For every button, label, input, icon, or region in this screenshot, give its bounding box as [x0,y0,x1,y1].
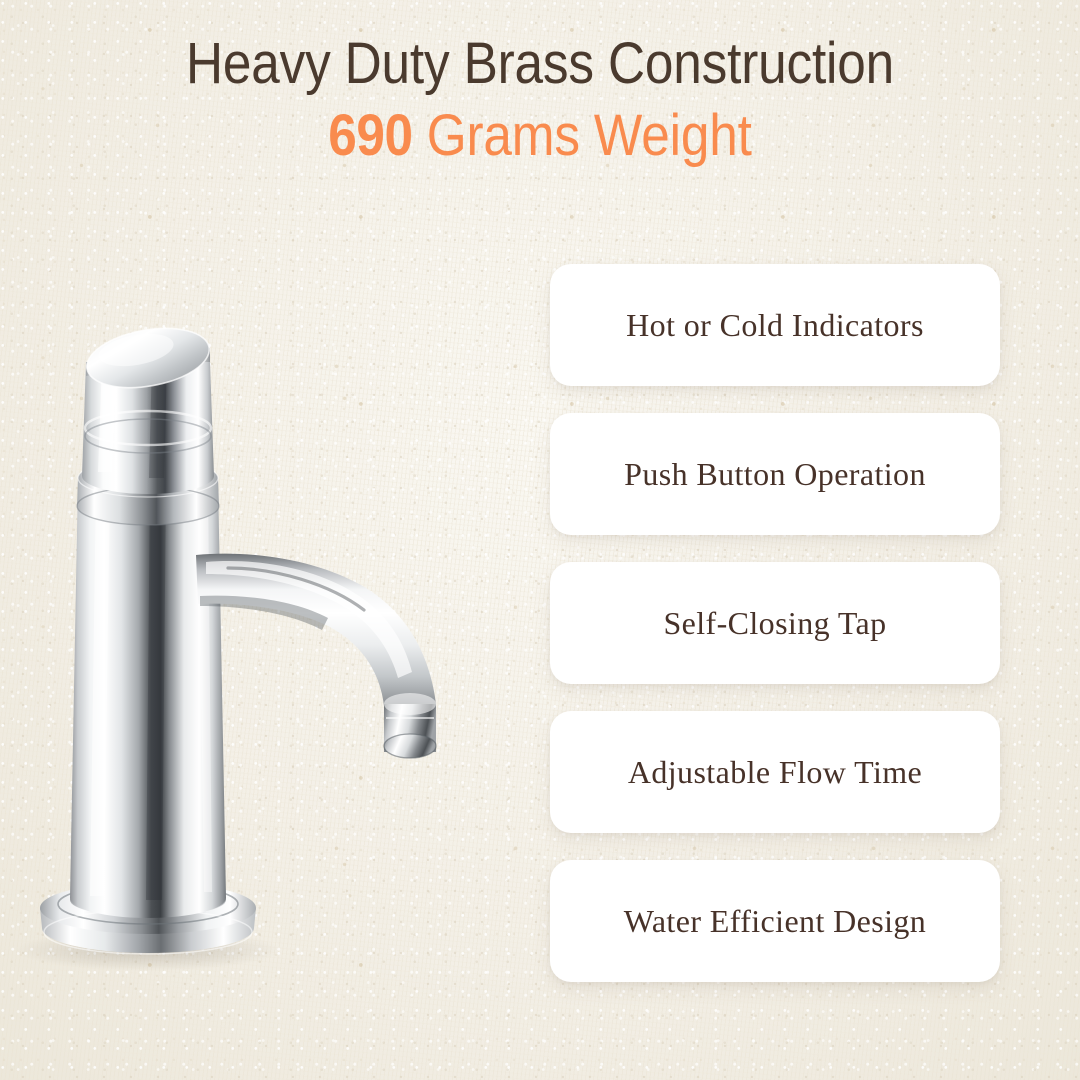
feature-card-label: Water Efficient Design [624,903,926,940]
feature-card-water-efficient-design[interactable]: Water Efficient Design [550,860,1000,982]
product-image-faucet [0,300,600,1000]
feature-card-label: Adjustable Flow Time [628,754,922,791]
feature-card-label: Self-Closing Tap [663,605,886,642]
weight-unit-label: Grams Weight [413,103,752,168]
feature-card-hot-or-cold-indicators[interactable]: Hot or Cold Indicators [550,264,1000,386]
page-title: Heavy Duty Brass Construction [62,34,1018,94]
heading-block: Heavy Duty Brass Construction 690 Grams … [0,34,1080,167]
weight-value: 690 [328,103,412,168]
feature-card-adjustable-flow-time[interactable]: Adjustable Flow Time [550,711,1000,833]
feature-card-list: Hot or Cold Indicators Push Button Opera… [550,264,1000,982]
feature-card-label: Push Button Operation [624,456,926,493]
feature-card-push-button-operation[interactable]: Push Button Operation [550,413,1000,535]
feature-card-label: Hot or Cold Indicators [626,307,924,344]
feature-card-self-closing-tap[interactable]: Self-Closing Tap [550,562,1000,684]
weight-subtitle: 690 Grams Weight [62,106,1018,166]
